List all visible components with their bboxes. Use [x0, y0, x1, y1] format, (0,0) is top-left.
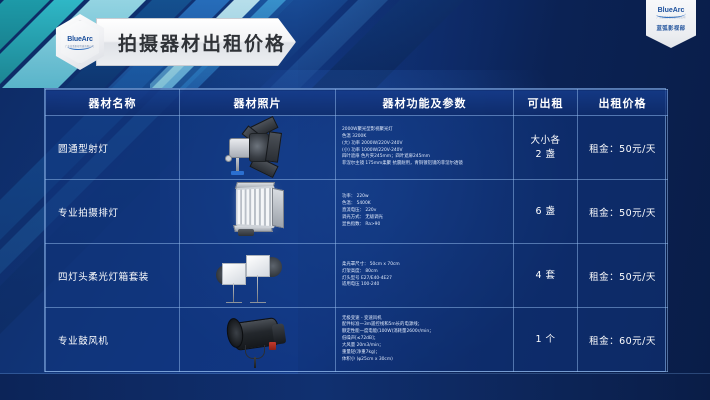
qty-line: 4 套: [514, 269, 577, 283]
page-title: 拍摄器材出租价格: [106, 29, 286, 56]
equipment-price: 租金：60元/天: [578, 308, 668, 372]
qty-line: 6 盏: [514, 205, 577, 219]
spec-line: 大风量 20m3/min；: [342, 343, 509, 350]
equipment-specs: 2000W聚光型影视聚光灯 色温 3200K (大) 功率 2000W/220V…: [336, 116, 514, 180]
equipment-quantity: 1 个: [514, 308, 578, 372]
equipment-rental-table: 器材名称 器材照片 器材功能及参数 可出租 出租价格 圆通型射灯: [44, 88, 666, 372]
table-row: 四灯头柔光灯箱套装: [46, 244, 668, 308]
spec-line: (大) 功率 2000W/220V-240V: [342, 141, 509, 148]
equipment-photo-cell: [180, 180, 336, 244]
equipment-photo-cell: [180, 244, 336, 308]
spec-line: 适用电压 100-240: [342, 282, 509, 289]
column-header-qty: 可出租: [514, 90, 578, 116]
column-header-name: 器材名称: [46, 90, 180, 116]
equipment-photo-cell: [180, 308, 336, 372]
spec-line: 体积小 (φ25cm x 30cm): [342, 357, 509, 364]
equipment-specs: 功率： 220w 色温： 5400K 直流电压： 220v 调光方式： 无级调光…: [336, 180, 514, 244]
equipment-specs: 无极变速 - 变速风机 配件标准一3m遥控线和5m长的电源线； 额定性能一度电能…: [336, 308, 514, 372]
table-header-row: 器材名称 器材照片 器材功能及参数 可出租 出租价格: [46, 90, 668, 116]
softbox-kit-icon: [180, 244, 335, 307]
spec-line: 2000W聚光型影视聚光灯: [342, 127, 509, 134]
spec-line: 显色指数： Ra>90: [342, 222, 509, 229]
brand-hex-inner: BlueArc 广东蓝弧影视传媒有限公司: [58, 20, 102, 64]
spec-line: 调光方式： 无级调光: [342, 215, 509, 222]
qty-line: 2 盏: [514, 148, 577, 162]
equipment-specs: 柔光罩尺寸： 50cm x 70cm 灯架高度： 80cm 灯头型号 E27/E…: [336, 244, 514, 308]
brand-logo-subtext: 广东蓝弧影视传媒有限公司: [66, 44, 95, 48]
spec-line: 直流电压： 220v: [342, 208, 509, 215]
equipment-quantity: 大小各 2 盏: [514, 116, 578, 180]
slide-root: 拍摄器材出租价格 BlueArc 广东蓝弧影视传媒有限公司 BlueArc 广东…: [0, 0, 710, 400]
equipment-name: 四灯头柔光灯箱套装: [46, 244, 180, 308]
column-header-specs: 器材功能及参数: [336, 90, 514, 116]
spec-line: 柔光罩尺寸： 50cm x 70cm: [342, 262, 509, 269]
equipment-price: 租金：50元/天: [578, 180, 668, 244]
footer-strip: [0, 374, 710, 400]
equipment-name: 专业鼓风机: [46, 308, 180, 372]
qty-line: 大小各: [514, 134, 577, 148]
header-zone: 拍摄器材出租价格: [0, 0, 710, 88]
equipment-name: 圆通型射灯: [46, 116, 180, 180]
title-plate: 拍摄器材出租价格: [96, 18, 296, 66]
equipment-price: 租金：50元/天: [578, 116, 668, 180]
equipment-name: 专业拍摄排灯: [46, 180, 180, 244]
column-header-price: 出租价格: [578, 90, 668, 116]
column-header-photo: 器材照片: [180, 90, 336, 116]
spec-line: 灯架高度： 80cm: [342, 269, 509, 276]
equipment-price: 租金：50元/天: [578, 244, 668, 308]
wind-blower-icon: [180, 308, 335, 371]
table-row: 专业鼓风机: [46, 308, 668, 372]
corner-brand-cn: 蓝弧影视部: [657, 24, 686, 32]
table-row: 专业拍摄排灯 功率： 220: [46, 180, 668, 244]
led-panel-light-icon: [180, 180, 335, 243]
fresnel-spotlight-icon: [180, 116, 335, 179]
spec-line: 色温 3200K: [342, 134, 509, 141]
spec-line: 菲涅尔主镜 175mm柔聚 抗震耐用，青铜镀铝镜的菲涅尔透镜: [342, 161, 509, 168]
qty-line: 1 个: [514, 333, 577, 347]
table-row: 圆通型射灯: [46, 116, 668, 180]
equipment-quantity: 4 套: [514, 244, 578, 308]
equipment-photo-cell: [180, 116, 336, 180]
spec-line: 低噪声[≤72dB]；: [342, 336, 509, 343]
equipment-quantity: 6 盏: [514, 180, 578, 244]
spec-line: 重量轻(净重7kg)；: [342, 350, 509, 357]
